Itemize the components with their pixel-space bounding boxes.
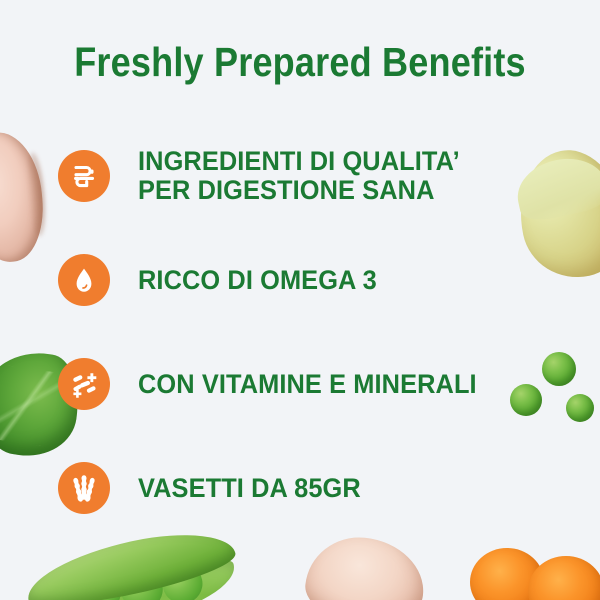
- pod-pea: [159, 560, 206, 600]
- fish-oil-drop-icon: [58, 254, 110, 306]
- benefit-label: VASETTI DA 85GR: [138, 474, 361, 503]
- pea-pod-front: [31, 549, 241, 600]
- pod-pea: [77, 569, 124, 600]
- chicken-piece-left-image: [0, 129, 48, 265]
- benefit-item-jar-size: VASETTI DA 85GR: [58, 450, 558, 526]
- benefit-item-omega-3: RICCO DI OMEGA 3: [58, 242, 558, 318]
- benefit-item-vitamins-minerals: CON VITAMINE E MINERALI: [58, 346, 558, 422]
- jars-icon: [58, 462, 110, 514]
- page-title: Freshly Prepared Benefits: [36, 42, 564, 83]
- benefit-label: INGREDIENTI DI QUALITA’ PER DIGESTIONE S…: [138, 147, 460, 204]
- benefit-label: RICCO DI OMEGA 3: [138, 266, 377, 295]
- pod-pea: [117, 564, 167, 600]
- carrot-slice-image: [528, 556, 600, 600]
- vitamins-minerals-pills-icon: [58, 358, 110, 410]
- benefit-label: CON VITAMINE E MINERALI: [138, 370, 477, 399]
- intestine-digestion-icon: [58, 150, 110, 202]
- benefit-item-quality-ingredients: INGREDIENTI DI QUALITA’ PER DIGESTIONE S…: [58, 138, 558, 214]
- benefit-list: INGREDIENTI DI QUALITA’ PER DIGESTIONE S…: [58, 138, 558, 554]
- green-pea-image: [566, 394, 594, 422]
- carrot-slice-image: [470, 548, 544, 600]
- promo-banner: Freshly Prepared Benefits INGREDIENTI DI…: [0, 0, 600, 600]
